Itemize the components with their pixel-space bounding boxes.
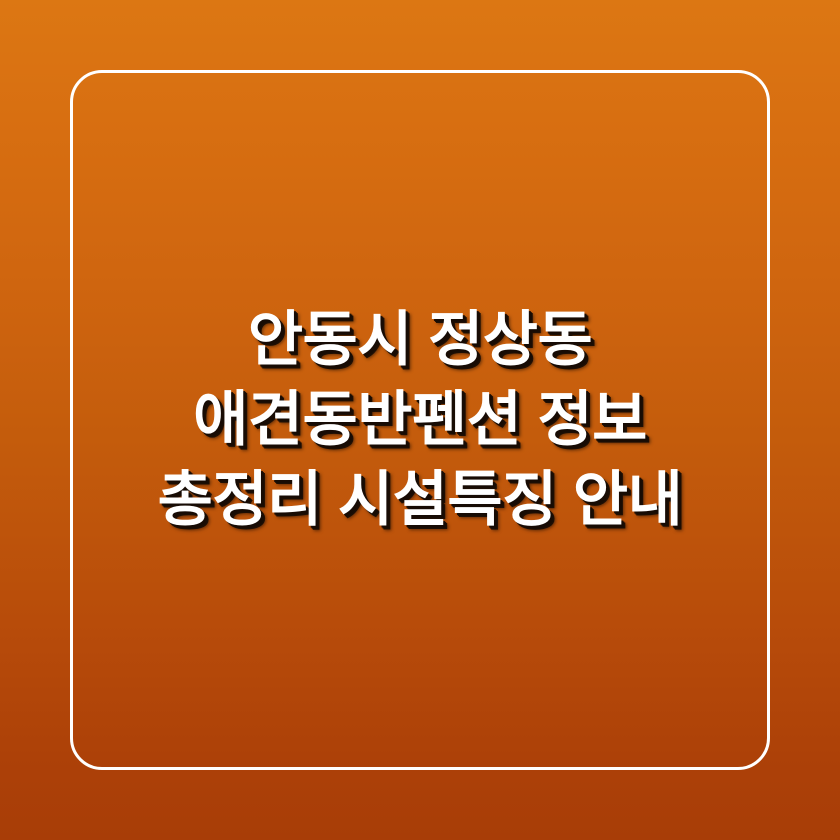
promo-card: 안동시 정상동 애견동반펜션 정보 총정리 시설특징 안내 <box>0 0 840 840</box>
headline-line-3: 총정리 시설특징 안내 <box>90 460 750 540</box>
headline-block: 안동시 정상동 애견동반펜션 정보 총정리 시설특징 안내 <box>0 0 840 840</box>
headline-line-2: 애견동반펜션 정보 <box>90 380 750 460</box>
headline-line-1: 안동시 정상동 <box>90 300 750 380</box>
